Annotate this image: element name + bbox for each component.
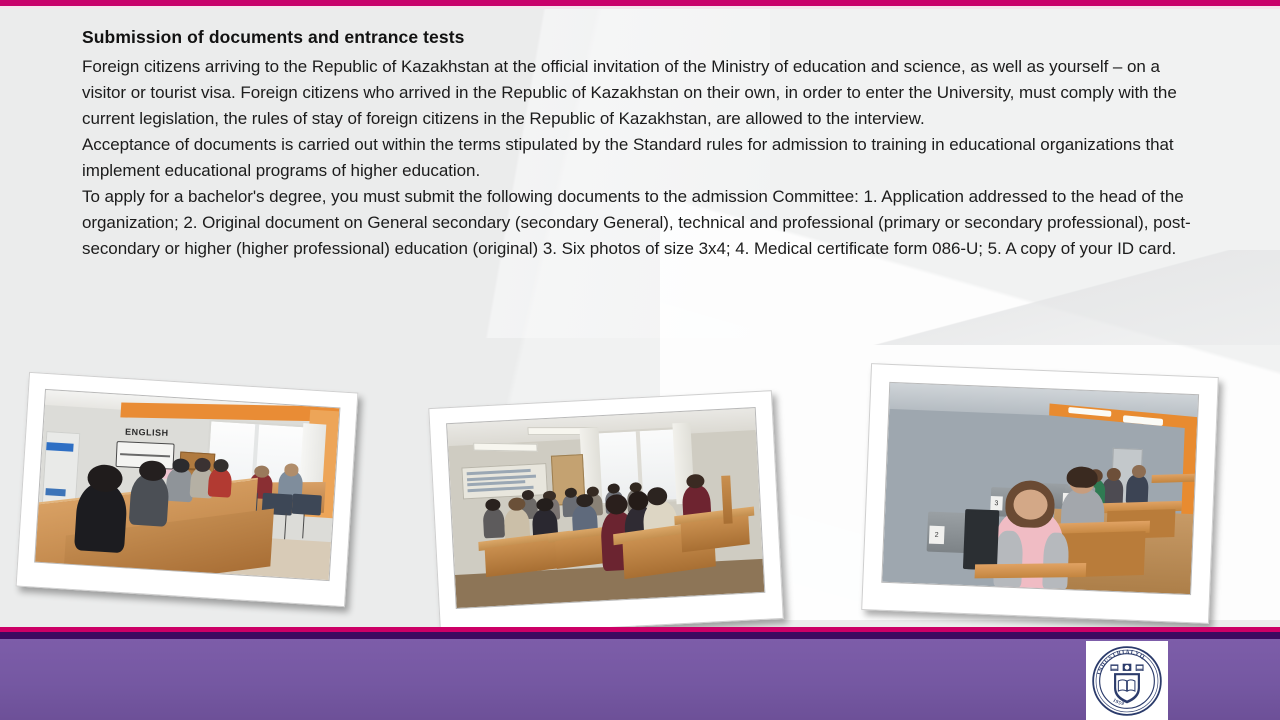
scene-computer-lab: 4 3 2 xyxy=(882,383,1198,594)
photo-frame-english-club[interactable]: ENGLISH xyxy=(16,372,359,607)
wall-art-english-text: ENGLISH xyxy=(114,421,179,443)
photo-image-computer-lab: 4 3 2 xyxy=(881,382,1199,595)
rudny-industrial-institute-seal-icon: INDUSTRIALYQ 1959 xyxy=(1091,645,1163,717)
background-wedge-lower-right xyxy=(850,250,1280,345)
top-accent-bar-light xyxy=(0,6,1280,9)
station-number-3: 3 xyxy=(990,496,1003,510)
body-paragraph-2: Acceptance of documents is carried out w… xyxy=(82,132,1202,184)
scene-english-club: ENGLISH xyxy=(35,390,339,580)
photo-image-lecture-hall xyxy=(446,407,765,609)
wall-board xyxy=(462,463,549,499)
footer-logo-container[interactable]: INDUSTRIALYQ 1959 xyxy=(1086,641,1168,720)
body-paragraph-1: Foreign citizens arriving to the Republi… xyxy=(82,54,1202,132)
presentation-slide: Submission of documents and entrance tes… xyxy=(0,0,1280,720)
body-paragraph-3: To apply for a bachelor's degree, you mu… xyxy=(82,184,1202,262)
photo-frame-computer-lab[interactable]: 4 3 2 xyxy=(861,363,1219,624)
photo-image-english-club: ENGLISH xyxy=(34,389,340,581)
station-number-2: 2 xyxy=(929,526,945,545)
scene-lecture-hall xyxy=(447,408,764,608)
page-title: Submission of documents and entrance tes… xyxy=(82,26,1202,50)
slide-text-block: Submission of documents and entrance tes… xyxy=(82,26,1202,262)
footer-accent-dark xyxy=(0,632,1280,639)
photo-frame-lecture-hall[interactable] xyxy=(428,390,784,637)
